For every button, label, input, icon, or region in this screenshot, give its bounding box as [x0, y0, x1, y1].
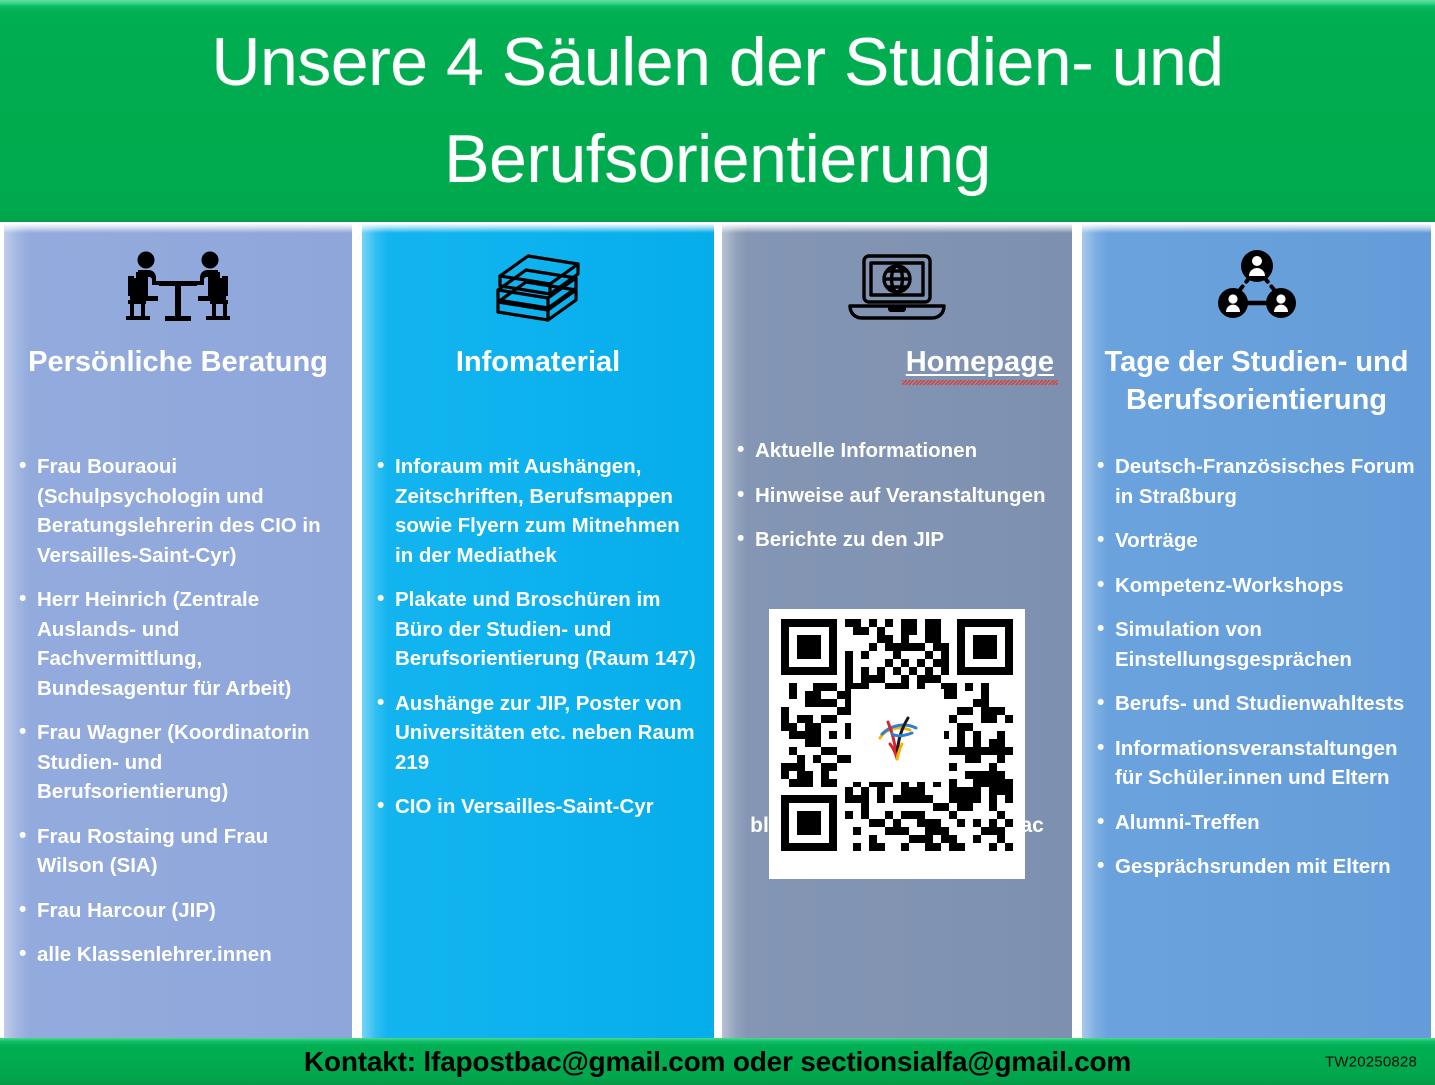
list-item: Alumni-Treffen: [1096, 808, 1417, 838]
pillar-bullet-list: Aktuelle Informationen Hinweise auf Vera…: [736, 436, 1058, 555]
list-item: Frau Wagner (Koordinatorin Studien- und …: [18, 718, 338, 807]
list-item: Gesprächsrunden mit Eltern: [1096, 852, 1417, 882]
list-item: Aktuelle Informationen: [736, 436, 1058, 466]
pillar-column-persoenliche-beratung[interactable]: Persönliche Beratung Frau Bouraoui (Schu…: [4, 224, 352, 1038]
people-network-icon: [1096, 224, 1417, 328]
pillar-title-area: Tage der Studien- und Berufsorientierung: [1096, 344, 1417, 452]
poster-footer: Kontakt: lfapostbac@gmail.com oder secti…: [0, 1038, 1435, 1085]
qr-section: bl ac: [736, 609, 1058, 899]
list-item: Aushänge zur JIP, Poster von Universität…: [376, 689, 700, 778]
qr-code[interactable]: [769, 609, 1025, 879]
list-item: Berichte zu den JIP: [736, 525, 1058, 555]
pillar-column-homepage[interactable]: Homepage Aktuelle Informationen Hinweise…: [722, 224, 1072, 1038]
pillar-title-area: Infomaterial: [376, 344, 700, 452]
franco-german-brushstroke-logo-icon: [861, 699, 933, 771]
list-item: Frau Rostaing und Frau Wilson (SIA): [18, 822, 338, 881]
pillar-title-area: Persönliche Beratung: [18, 344, 338, 452]
pillar-title: Persönliche Beratung: [18, 344, 338, 382]
list-item: CIO in Versailles-Saint-Cyr: [376, 792, 700, 822]
pillar-title: Infomaterial: [376, 344, 700, 382]
list-item: Vorträge: [1096, 526, 1417, 556]
pillar-title: Homepage: [902, 344, 1058, 382]
list-item: Berufs- und Studienwahltests: [1096, 689, 1417, 719]
list-item: alle Klassenlehrer.innen: [18, 940, 338, 970]
stack-of-books-icon: [376, 224, 700, 328]
pillar-bullet-list: Frau Bouraoui (Schulpsychologin und Bera…: [18, 452, 338, 970]
contact-text: Kontakt: lfapostbac@gmail.com oder secti…: [304, 1046, 1131, 1078]
pillars-container: Persönliche Beratung Frau Bouraoui (Schu…: [0, 224, 1435, 1038]
list-item: Inforaum mit Aushängen, Zeitschriften, B…: [376, 452, 700, 570]
pillar-column-infomaterial[interactable]: Infomaterial Inforaum mit Aushängen, Zei…: [362, 224, 714, 1038]
qr-grid: [781, 619, 1013, 851]
document-code: TW20250828: [1325, 1053, 1417, 1070]
page-title: Unsere 4 Säulen der Studien- und Berufso…: [88, 14, 1348, 207]
list-item: Kompetenz-Workshops: [1096, 571, 1417, 601]
list-item: Frau Bouraoui (Schulpsychologin und Bera…: [18, 452, 338, 570]
pillar-bullet-list: Inforaum mit Aushängen, Zeitschriften, B…: [376, 452, 700, 822]
list-item: Informationsveranstaltungen für Schüler.…: [1096, 734, 1417, 793]
list-item: Simulation von Einstellungsgesprächen: [1096, 615, 1417, 674]
list-item: Plakate und Broschüren im Büro der Studi…: [376, 585, 700, 674]
pillar-title-text: Homepage: [906, 346, 1054, 378]
two-people-at-table-icon: [18, 224, 338, 328]
infographic-poster: Unsere 4 Säulen der Studien- und Berufso…: [0, 0, 1435, 1085]
pillar-title-area: Homepage: [736, 328, 1058, 436]
laptop-globe-icon: [736, 224, 1058, 328]
list-item: Frau Harcour (JIP): [18, 896, 338, 926]
list-item: Herr Heinrich (Zentrale Auslands- und Fa…: [18, 585, 338, 703]
list-item: Hinweise auf Veranstaltungen: [736, 481, 1058, 511]
list-item: Deutsch-Französisches Forum in Straßburg: [1096, 452, 1417, 511]
poster-header: Unsere 4 Säulen der Studien- und Berufso…: [0, 0, 1435, 222]
qr-caption-left: bl: [750, 814, 769, 837]
spellcheck-squiggle-icon: [902, 380, 1058, 385]
pillar-title: Tage der Studien- und Berufsorientierung: [1096, 344, 1417, 419]
pillar-bullet-list: Deutsch-Französisches Forum in Straßburg…: [1096, 452, 1417, 882]
pillar-column-tage-der-studien-und-berufsorientierung[interactable]: Tage der Studien- und Berufsorientierung…: [1082, 224, 1431, 1038]
